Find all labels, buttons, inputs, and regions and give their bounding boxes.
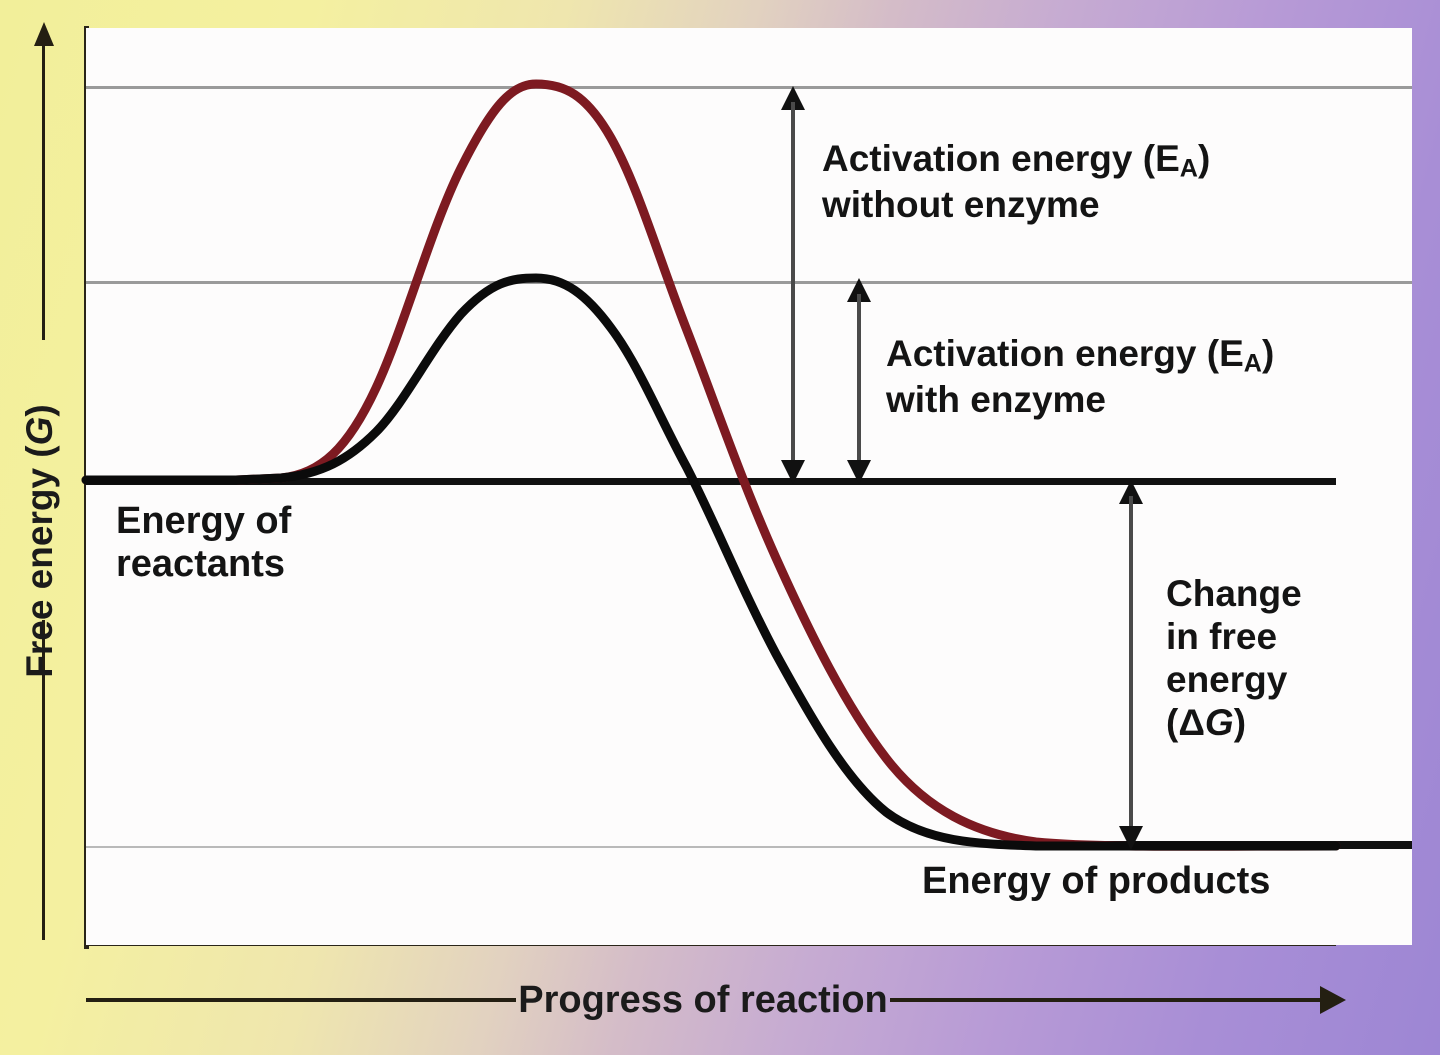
y-axis-label-symbol: G: [19, 417, 60, 446]
y-axis-label-suffix: ): [19, 404, 60, 416]
x-axis-label-row: Progress of reaction: [86, 978, 1346, 1022]
delta-g-label-line1: Change: [1166, 573, 1396, 616]
ea-with-enzyme-arrow: [846, 278, 872, 484]
y-axis-label-prefix: Free energy (: [19, 445, 60, 677]
delta-g-arrow: [1118, 480, 1144, 850]
plot-area: Activation energy (EA) without enzyme Ac…: [86, 28, 1412, 945]
x-axis-label: Progress of reaction: [516, 981, 890, 1019]
products-label: Energy of products: [922, 860, 1270, 903]
ea-without-enzyme-label-line1: Activation energy (EA): [822, 138, 1210, 184]
ea-without-enzyme-arrow: [780, 86, 806, 484]
ea-without-enzyme-label-line2: without enzyme: [822, 184, 1210, 227]
ea-with-enzyme-label-line1: Activation energy (EA): [886, 333, 1274, 379]
reactants-label: Energy of reactants: [116, 500, 291, 585]
ea-with-enzyme-label-line2: with enzyme: [886, 379, 1274, 422]
delta-g-label-line3: energy: [1166, 659, 1396, 702]
delta-g-label-line4: (ΔG): [1166, 702, 1396, 745]
subscript-a: A: [1244, 350, 1262, 378]
arrowhead-down-icon: [1119, 826, 1143, 850]
subscript-a: A: [1180, 155, 1198, 183]
delta-g-label-line2: in free: [1166, 616, 1396, 659]
arrow-shaft: [791, 102, 795, 470]
energy-diagram-figure: Free energy (G): [0, 0, 1440, 1055]
arrowhead-down-icon: [781, 460, 805, 484]
delta-g-label: Change in free energy (ΔG): [1166, 573, 1396, 745]
x-axis-arrowhead-icon: [1320, 986, 1346, 1014]
ea-without-enzyme-label: Activation energy (EA) without enzyme: [822, 138, 1210, 227]
arrow-shaft: [857, 294, 861, 470]
ea-with-enzyme-label: Activation energy (EA) with enzyme: [886, 333, 1274, 422]
arrowhead-down-icon: [847, 460, 871, 484]
reaction-coordinate-curves: [86, 28, 1412, 945]
x-axis-line-right: [890, 998, 1320, 1002]
x-axis-line-left: [86, 998, 516, 1002]
y-axis-shaft-upper: [42, 40, 45, 340]
y-axis-label: Free energy (G): [19, 326, 61, 756]
arrow-shaft: [1129, 496, 1133, 836]
